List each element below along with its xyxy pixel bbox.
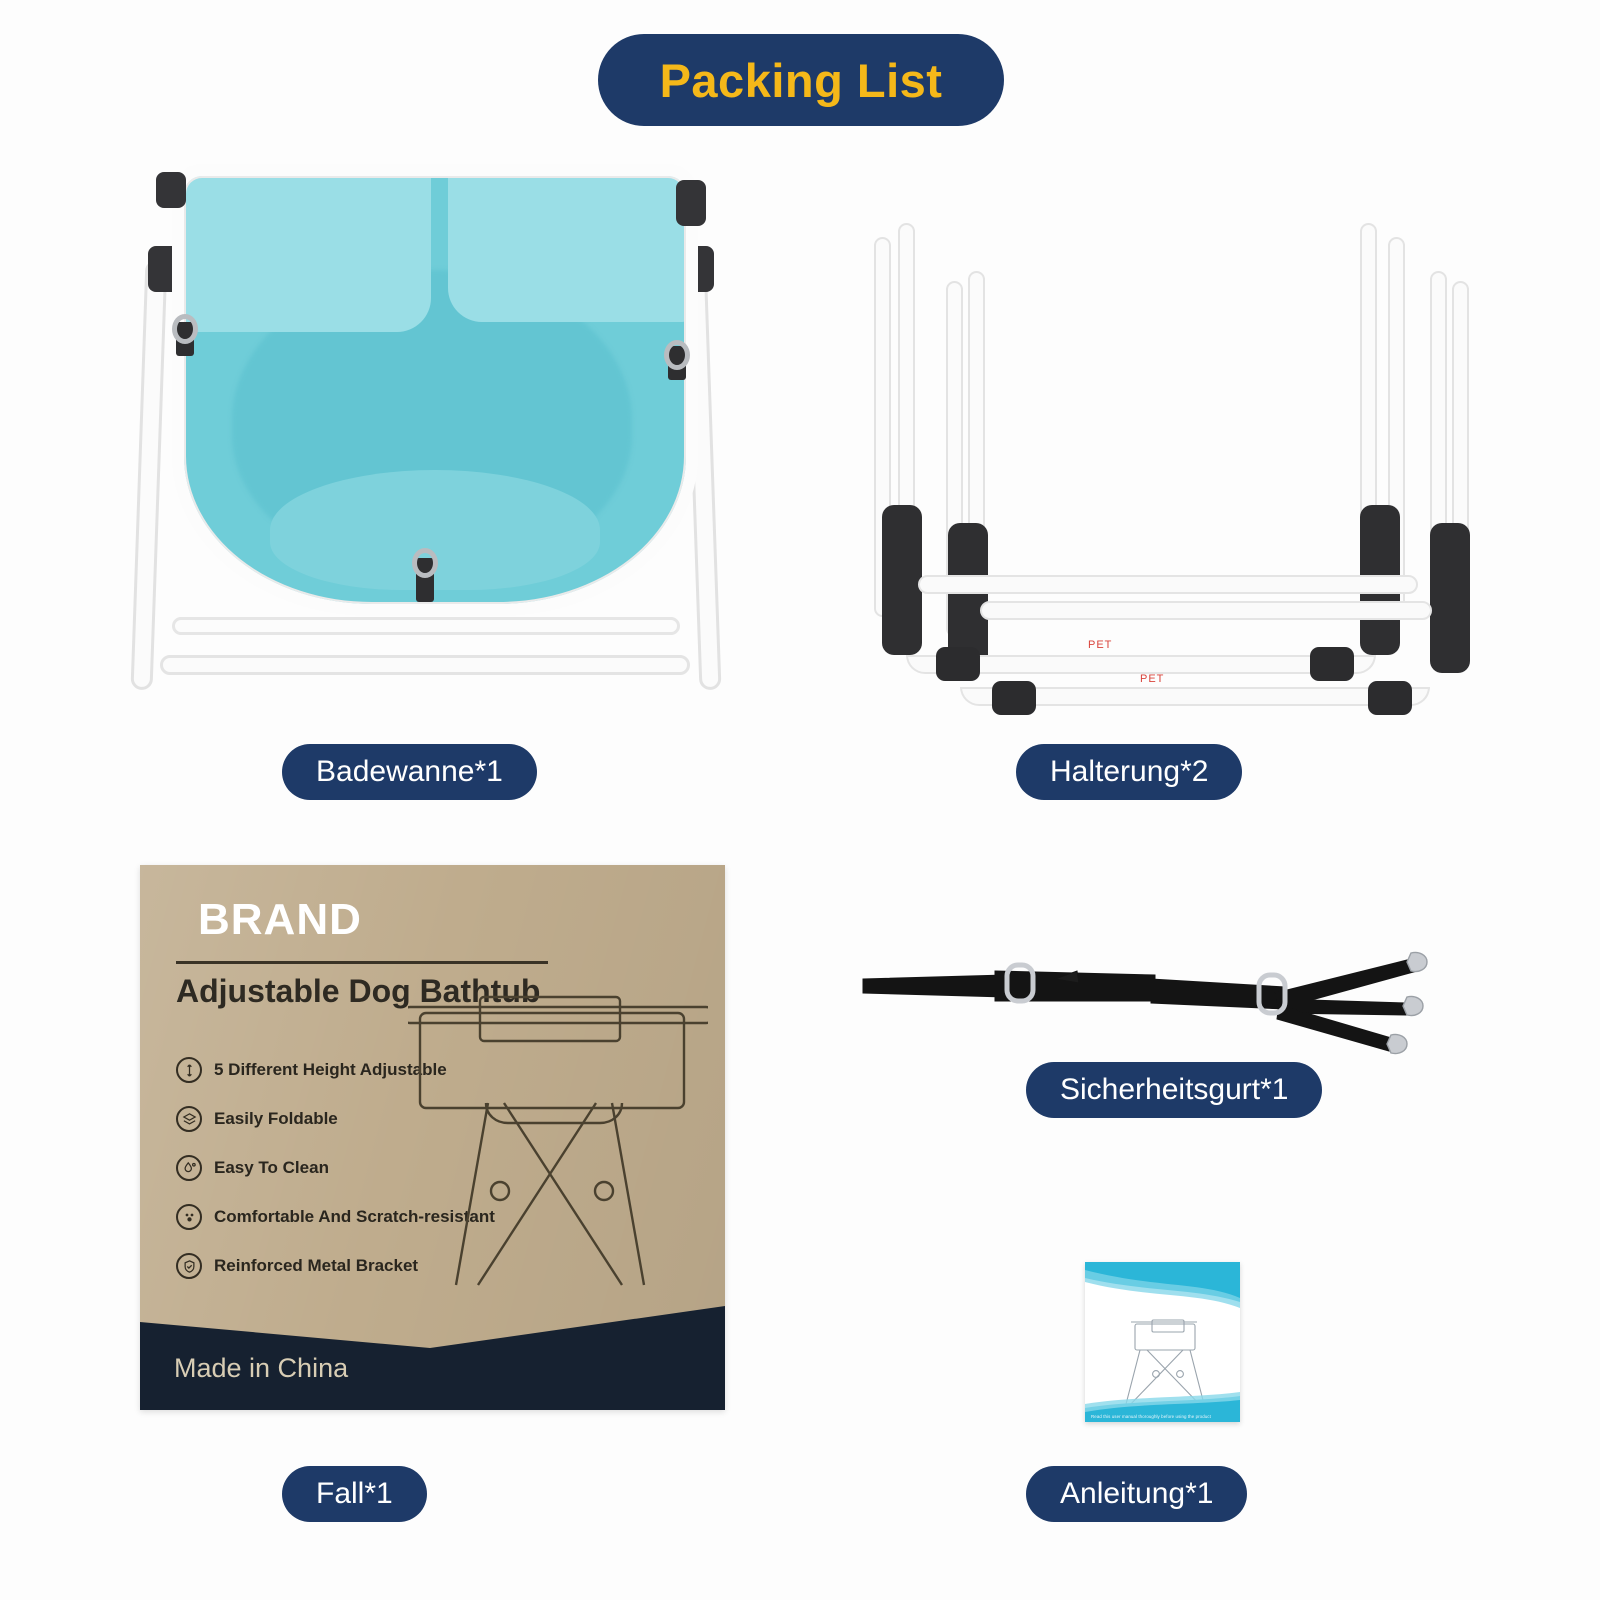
frame-foot-4 — [1368, 681, 1412, 715]
box-line-art — [408, 985, 708, 1315]
box-feature-label: Easy To Clean — [214, 1158, 329, 1178]
tub-dring-left — [172, 314, 198, 344]
box-feature-label: Reinforced Metal Bracket — [214, 1256, 418, 1276]
bathtub-photo — [120, 150, 740, 730]
tub-corner-fitting-left — [148, 246, 182, 292]
box-divider — [176, 961, 548, 964]
packing-list-page: Packing List Badewanne*1 — [0, 0, 1600, 1600]
tub-dring-right — [664, 340, 690, 370]
tub-crossbar-lower — [160, 655, 690, 675]
page-title: Packing List — [660, 53, 943, 108]
box-feature-label: Easily Foldable — [214, 1109, 338, 1129]
frame-crossbar-2 — [980, 601, 1432, 620]
frame-logo-2: PET — [1140, 673, 1164, 685]
tub-leg-left — [131, 260, 168, 691]
tub-flap-right — [448, 172, 688, 322]
caption-bathtub: Badewanne*1 — [282, 744, 537, 800]
frame-logo-1: PET — [1088, 639, 1112, 651]
caption-safety-belt: Sicherheitsgurt*1 — [1026, 1062, 1322, 1118]
page-title-badge: Packing List — [598, 34, 1004, 126]
frame-foot-3 — [992, 681, 1036, 715]
frame-joint-right-2 — [1430, 523, 1470, 673]
manual-caption: Read this user manual thoroughly before … — [1091, 1414, 1237, 1419]
caption-bracket-label: Halterung*2 — [1050, 755, 1208, 789]
caption-safety-belt-label: Sicherheitsgurt*1 — [1060, 1073, 1288, 1107]
frame-joint-left-1 — [882, 505, 922, 655]
paw-comfort-icon — [176, 1204, 202, 1230]
tub-fabric-body — [180, 170, 690, 610]
tub-top-fitting-right — [676, 180, 706, 226]
layers-icon — [176, 1106, 202, 1132]
caption-manual: Anleitung*1 — [1026, 1466, 1247, 1522]
caption-bracket: Halterung*2 — [1016, 744, 1242, 800]
water-drop-icon — [176, 1155, 202, 1181]
frame-foot-1 — [936, 647, 980, 681]
caption-manual-label: Anleitung*1 — [1060, 1477, 1213, 1511]
tub-top-fitting-left — [156, 172, 186, 208]
caption-case: Fall*1 — [282, 1466, 427, 1522]
carton-box-photo: BRAND Adjustable Dog Bathtub 5 Different… — [140, 865, 725, 1410]
bracket-photo: PET PET — [840, 215, 1480, 735]
tub-dring-bottom — [412, 548, 438, 578]
tub-crossbar-upper — [172, 617, 680, 635]
user-manual-photo: Read this user manual thoroughly before … — [1085, 1262, 1240, 1422]
height-adjust-icon — [176, 1057, 202, 1083]
caption-case-label: Fall*1 — [316, 1477, 393, 1511]
tub-leg-right — [685, 260, 722, 691]
safety-belt-photo — [855, 935, 1455, 1065]
frame-crossbar-1 — [918, 575, 1418, 594]
frame-foot-2 — [1310, 647, 1354, 681]
tub-flap-left — [186, 172, 431, 332]
shield-check-icon — [176, 1253, 202, 1279]
box-brand: BRAND — [198, 895, 362, 945]
caption-bathtub-label: Badewanne*1 — [316, 755, 503, 789]
box-made-in: Made in China — [174, 1353, 348, 1384]
